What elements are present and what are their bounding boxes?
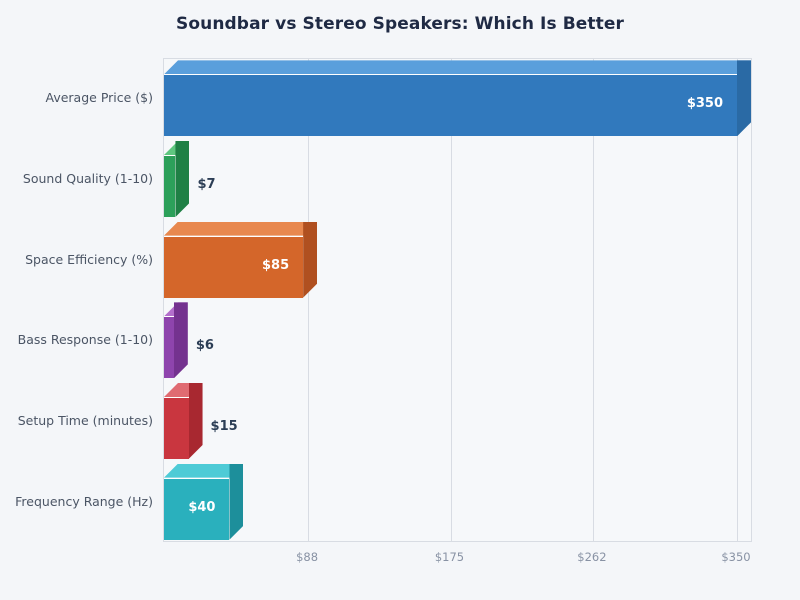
bar-value-label: $85: [262, 258, 289, 273]
bar-side-face: [303, 222, 317, 298]
bar[interactable]: $15: [164, 383, 203, 459]
bar-value-label: $350: [687, 96, 723, 111]
y-axis-tick-label: Setup Time (minutes): [18, 413, 153, 428]
bar-front-face: [164, 397, 189, 459]
bar-value-label: $7: [197, 177, 215, 192]
bar-side-face: [737, 60, 751, 136]
bar[interactable]: $40: [164, 464, 243, 540]
y-axis-tick-label: Bass Response (1-10): [18, 332, 153, 347]
bar-side-face: [229, 464, 243, 540]
y-axis-tick-labels: Average Price ($)Sound Quality (1-10)Spa…: [0, 58, 153, 542]
x-axis-tick-label: $88: [296, 550, 318, 564]
x-axis-tick-label: $350: [721, 550, 750, 564]
chart-title: Soundbar vs Stereo Speakers: Which Is Be…: [0, 14, 800, 34]
x-axis-tick-label: $262: [577, 550, 606, 564]
bar[interactable]: $350: [164, 60, 751, 136]
y-axis-tick-label: Average Price ($): [46, 90, 153, 105]
bar[interactable]: $7: [164, 141, 189, 217]
bar-value-label: $15: [211, 419, 238, 434]
bar-side-face: [189, 383, 203, 459]
bar-front-face: [164, 155, 175, 217]
bar-front-face: [164, 316, 174, 378]
y-axis-tick-label: Space Efficiency (%): [25, 252, 153, 267]
bar-value-label: $6: [196, 338, 214, 353]
bar-front-face: [164, 74, 737, 136]
bar-side-face: [175, 141, 189, 217]
bar[interactable]: $85: [164, 222, 317, 298]
bar-top-face: [164, 222, 317, 236]
bar[interactable]: $6: [164, 302, 188, 378]
y-axis-tick-label: Frequency Range (Hz): [15, 494, 153, 509]
x-axis-tick-label: $175: [435, 550, 464, 564]
bar-value-label: $40: [188, 500, 215, 515]
bar-side-face: [174, 302, 188, 378]
bar-top-face: [164, 60, 751, 74]
chart-container: Soundbar vs Stereo Speakers: Which Is Be…: [0, 0, 800, 600]
y-axis-tick-label: Sound Quality (1-10): [23, 171, 153, 186]
